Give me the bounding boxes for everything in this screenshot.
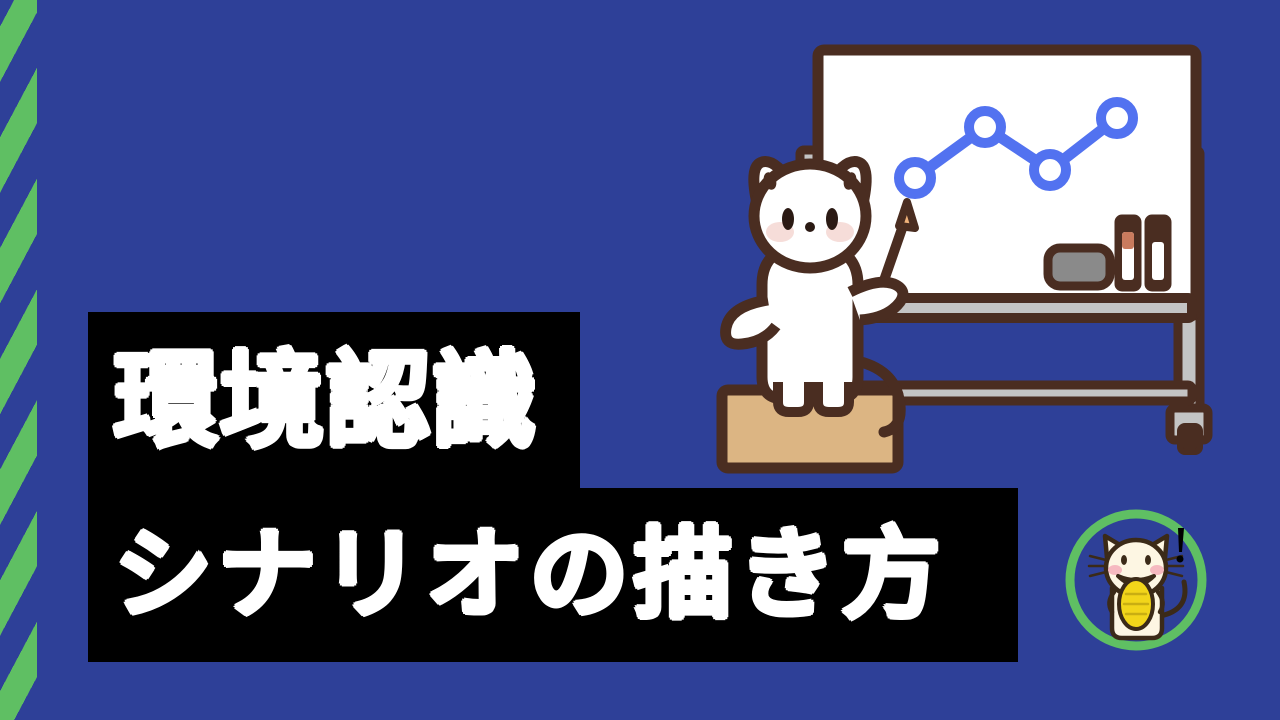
logo-cat-cheek-left xyxy=(1108,565,1122,575)
logo-svg xyxy=(1052,496,1220,664)
cat-eye-left xyxy=(782,208,794,230)
cat-head xyxy=(754,162,866,268)
diagonal-stripe-band xyxy=(0,0,37,720)
stripe-pattern xyxy=(0,0,37,720)
cat-left-arm xyxy=(726,300,776,344)
cat-eye-right xyxy=(826,208,838,230)
logo-cat-cheek-right xyxy=(1150,565,1164,575)
eraser-icon xyxy=(1048,248,1110,286)
cat-foot-right xyxy=(818,382,849,412)
thumbnail-canvas: 環境認識 シナリオの描き方 xyxy=(0,0,1280,720)
illustration-cat-whiteboard xyxy=(700,30,1240,490)
title-line-2: シナリオの描き方 xyxy=(88,526,946,624)
whiteboard-scene-svg xyxy=(700,30,1240,490)
chart-point xyxy=(1034,154,1066,186)
chart-point xyxy=(1101,102,1133,134)
logo-cat-eye-left xyxy=(1121,555,1127,565)
cat-foot-left xyxy=(778,382,809,412)
chart-point xyxy=(969,111,1001,143)
title-line-1: 環境認識 xyxy=(88,349,538,453)
logo-cat-eye-right xyxy=(1145,555,1151,565)
title-box-secondary: シナリオの描き方 xyxy=(88,488,1018,662)
logo-cat xyxy=(1089,536,1185,638)
title-box-primary: 環境認識 xyxy=(88,312,580,490)
channel-logo-badge xyxy=(1052,496,1220,664)
cat-nose xyxy=(805,222,815,232)
chart-point xyxy=(899,162,931,194)
